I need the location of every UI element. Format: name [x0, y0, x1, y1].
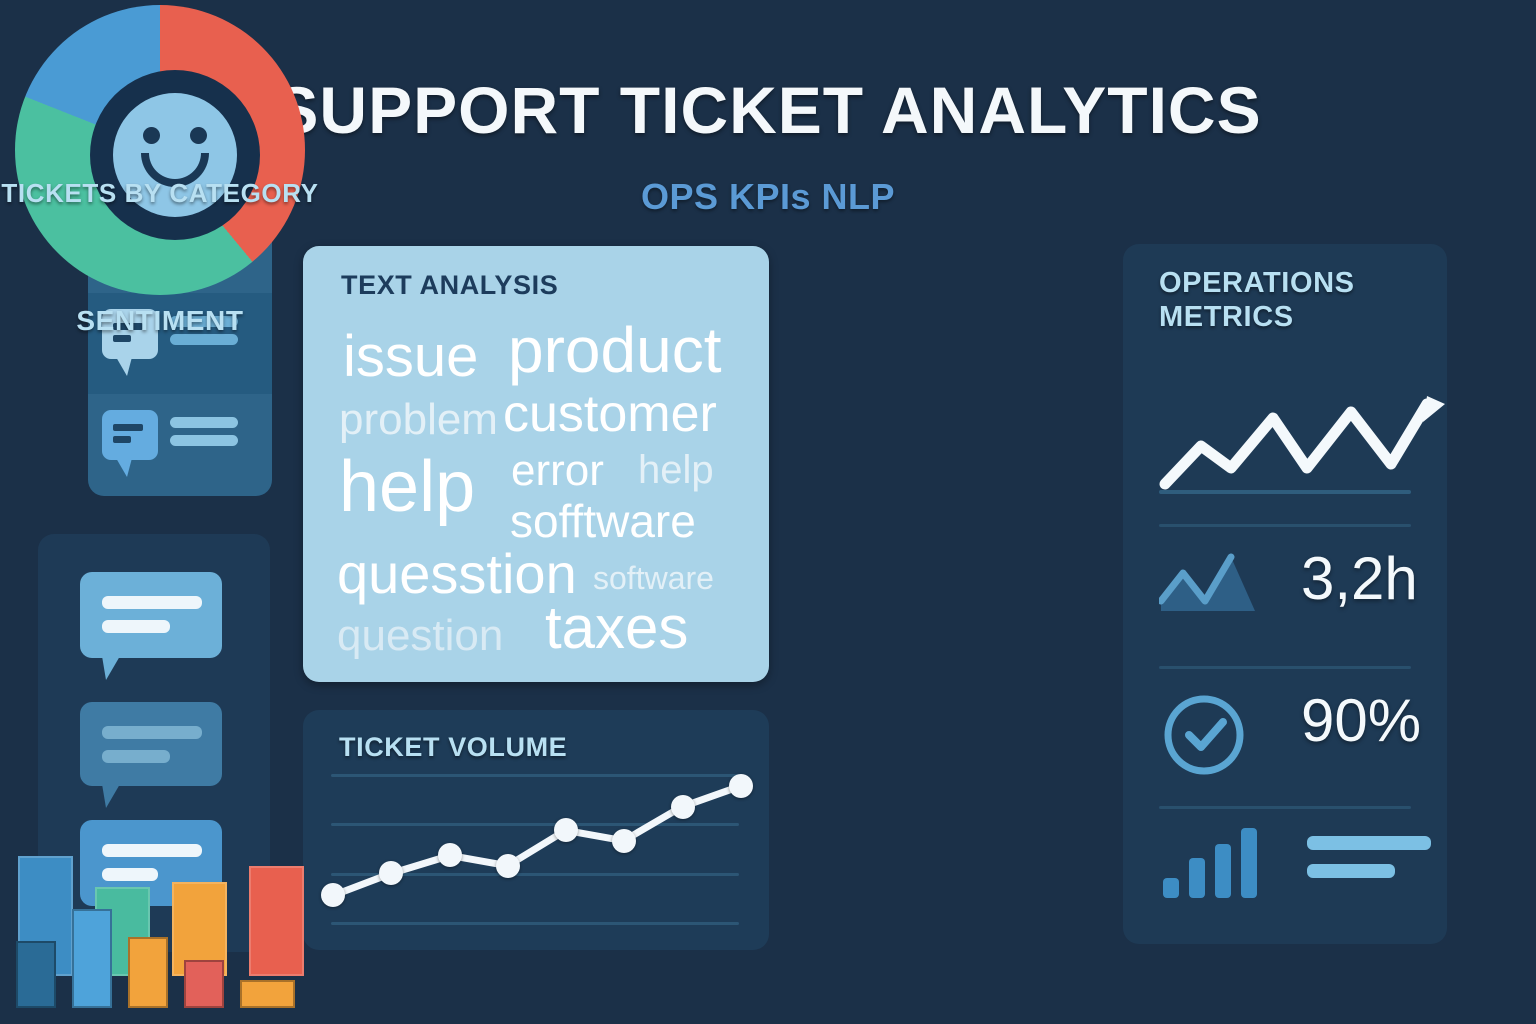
chat-bubble-icon[interactable]	[80, 572, 222, 658]
operations-metrics-panel[interactable]: OPERATIONS METRICS 3,2h 90%	[1123, 244, 1447, 944]
word-cloud-term: problem	[339, 398, 498, 442]
data-point[interactable]	[321, 883, 345, 907]
sparkline-area-icon	[1159, 549, 1279, 619]
text-bar	[1307, 864, 1395, 878]
sentiment-label: SENTIMENT	[0, 305, 320, 337]
chat-line	[102, 596, 202, 609]
list-item-line	[170, 417, 238, 428]
text-bar	[1307, 836, 1431, 850]
bar[interactable]	[249, 866, 304, 976]
chat-line	[102, 868, 158, 881]
divider	[1159, 806, 1411, 809]
divider	[1159, 666, 1411, 669]
data-point[interactable]	[729, 774, 753, 798]
trending-up-arrow-icon	[1155, 374, 1455, 494]
chat-bubble-icon[interactable]	[80, 702, 222, 786]
word-cloud-term: software	[593, 562, 714, 594]
bar[interactable]	[184, 960, 224, 1008]
sentiment-donut	[15, 5, 305, 295]
tickets-by-category-label: TICKETS BY CATEGORY	[0, 178, 320, 209]
chat-line	[102, 750, 170, 763]
bar[interactable]	[16, 941, 56, 1008]
data-point[interactable]	[379, 861, 403, 885]
check-circle-icon	[1159, 690, 1249, 780]
word-cloud-term: question	[337, 614, 503, 658]
data-point[interactable]	[671, 795, 695, 819]
data-point[interactable]	[496, 854, 520, 878]
ticket-volume-panel[interactable]: TICKET VOLUME	[303, 710, 769, 950]
word-cloud-term: error	[511, 449, 604, 493]
word-cloud-term: issue	[343, 328, 478, 386]
data-point[interactable]	[438, 843, 462, 867]
operations-metrics-title: OPERATIONS METRICS	[1159, 266, 1419, 334]
chat-line	[102, 726, 202, 739]
ticket-volume-title: TICKET VOLUME	[339, 732, 567, 763]
text-analysis-title: TEXT ANALYSIS	[341, 270, 558, 301]
list-item[interactable]	[88, 394, 272, 495]
speech-bubble-icon	[102, 410, 158, 460]
grid-line	[331, 823, 739, 826]
word-cloud-term: help	[339, 451, 475, 523]
resolution-rate-value: 90%	[1301, 686, 1421, 755]
bar-chart-icon	[1163, 826, 1263, 898]
word-cloud-term: taxes	[545, 598, 688, 658]
word-cloud-term: product	[508, 318, 721, 382]
bar[interactable]	[128, 937, 168, 1008]
smiley-eye-right	[190, 127, 207, 144]
text-analysis-panel[interactable]: TEXT ANALYSIS issueproductproblemcustome…	[303, 246, 769, 682]
word-cloud-term: help	[638, 450, 714, 490]
bar[interactable]	[72, 909, 112, 1008]
grid-line	[331, 774, 739, 777]
avg-response-time-value: 3,2h	[1301, 544, 1418, 613]
chat-line	[102, 620, 170, 633]
dashboard-root: SUPPORT TICKET ANALYTICS OPS KPIs NLP	[0, 0, 1536, 1024]
data-point[interactable]	[554, 818, 578, 842]
smiley-eye-left	[143, 127, 160, 144]
word-cloud-term: sofftware	[510, 498, 696, 544]
divider	[1159, 490, 1411, 494]
chat-line	[102, 844, 202, 857]
word-cloud-term: customer	[503, 388, 717, 440]
list-item-line	[170, 435, 238, 446]
data-point[interactable]	[612, 829, 636, 853]
word-cloud-term: quesstion	[337, 546, 577, 602]
divider	[1159, 524, 1411, 527]
grid-line	[331, 922, 739, 925]
bar[interactable]	[240, 980, 295, 1008]
